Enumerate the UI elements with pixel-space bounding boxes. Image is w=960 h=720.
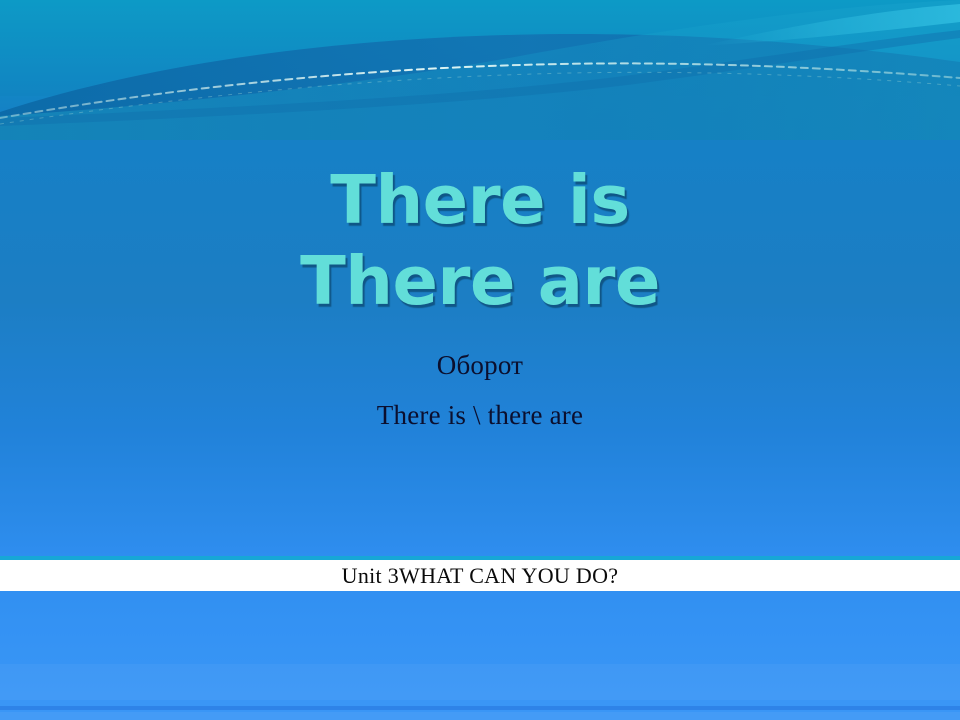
body-line-there-is-there-are: There is \ there are [0, 398, 960, 432]
bottom-highlight-band [0, 664, 960, 700]
wave-ribbon-header-icon [0, 0, 960, 140]
slide-title-line-1: There is [0, 160, 960, 241]
bottom-edge-band [0, 712, 960, 720]
presentation-slide: There is There are Оборот There is \ the… [0, 0, 960, 720]
body-line-oborot: Оборот [0, 348, 960, 382]
footer-band: Unit 3WHAT CAN YOU DO? [0, 560, 960, 591]
footer-text: Unit 3WHAT CAN YOU DO? [342, 563, 619, 589]
slide-title-line-2: There are [0, 241, 960, 322]
bottom-edge-line [0, 706, 960, 710]
slide-title: There is There are [0, 160, 960, 322]
slide-body: Оборот There is \ there are [0, 348, 960, 432]
